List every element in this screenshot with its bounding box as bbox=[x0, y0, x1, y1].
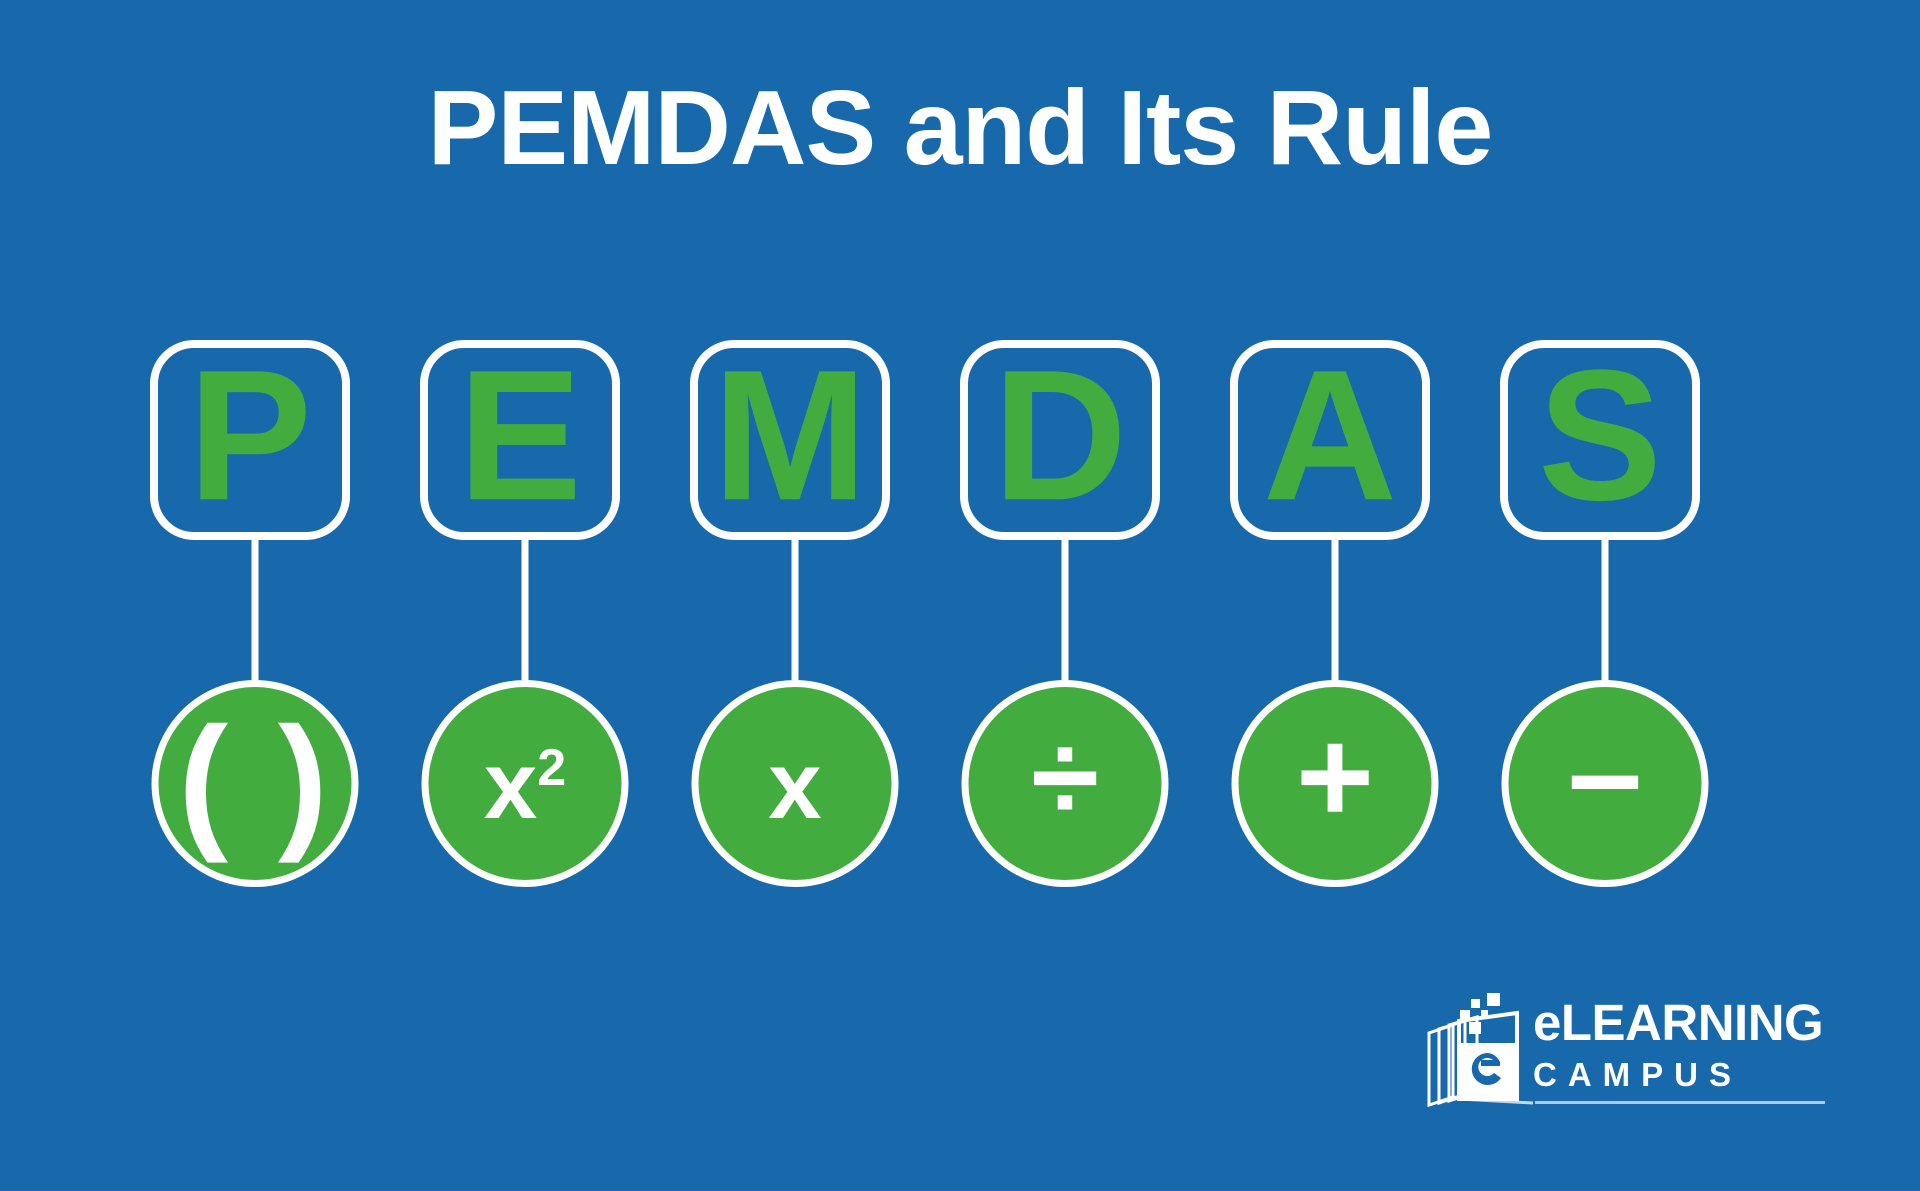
logo-wordmark: eLEARNING CAMPUS bbox=[1533, 997, 1833, 1091]
minus-icon: – bbox=[1568, 706, 1643, 840]
exponent-icon: x2 bbox=[484, 737, 566, 833]
plus-icon: + bbox=[1296, 710, 1374, 844]
letter-box-p[interactable]: P bbox=[150, 340, 350, 540]
symbol-circle-exponent[interactable]: x2 bbox=[422, 680, 629, 887]
letter-glyph-e: E bbox=[458, 343, 582, 529]
connector-line-p bbox=[252, 540, 259, 680]
letter-glyph-p: P bbox=[188, 343, 312, 529]
letter-glyph-a: A bbox=[1263, 343, 1397, 529]
division-icon: ÷ bbox=[1031, 715, 1099, 839]
pemdas-column-p: P ( ) bbox=[150, 340, 360, 900]
pemdas-column-e: E x2 bbox=[420, 340, 630, 900]
symbol-circle-multiplication[interactable]: x bbox=[692, 680, 899, 887]
slide-canvas: PEMDAS and Its Rule P ( ) E x2 M bbox=[0, 0, 1920, 1191]
pemdas-column-a: A + bbox=[1230, 340, 1440, 900]
letter-box-a[interactable]: A bbox=[1230, 340, 1430, 540]
symbol-circle-division[interactable]: ÷ bbox=[962, 680, 1169, 887]
page-title: PEMDAS and Its Rule bbox=[0, 70, 1920, 187]
logo-line-campus: CAMPUS bbox=[1533, 1058, 1833, 1091]
symbol-circle-addition[interactable]: + bbox=[1232, 680, 1439, 887]
connector-line-a bbox=[1332, 540, 1339, 680]
logo-line-elearning: eLEARNING bbox=[1533, 997, 1833, 1048]
pemdas-column-d: D ÷ bbox=[960, 340, 1170, 900]
connector-line-d bbox=[1062, 540, 1069, 680]
stacked-books-icon bbox=[1425, 993, 1535, 1113]
connector-line-m bbox=[792, 540, 799, 680]
connector-line-s bbox=[1602, 540, 1609, 680]
parentheses-icon: ( ) bbox=[178, 704, 332, 854]
letter-box-m[interactable]: M bbox=[690, 340, 890, 540]
letter-box-s[interactable]: S bbox=[1500, 340, 1700, 540]
connector-line-e bbox=[522, 540, 529, 680]
exponent-power: 2 bbox=[537, 738, 566, 796]
letter-box-e[interactable]: E bbox=[420, 340, 620, 540]
multiplication-icon: x bbox=[768, 737, 821, 833]
letter-box-d[interactable]: D bbox=[960, 340, 1160, 540]
pemdas-diagram: P ( ) E x2 M x bbox=[150, 340, 1730, 900]
letter-glyph-d: D bbox=[993, 343, 1127, 529]
symbol-circle-subtraction[interactable]: – bbox=[1502, 680, 1709, 887]
letter-glyph-s: S bbox=[1538, 343, 1662, 529]
letter-glyph-m: M bbox=[713, 343, 868, 529]
pemdas-column-s: S – bbox=[1500, 340, 1710, 900]
logo-underline bbox=[1535, 1101, 1825, 1104]
symbol-circle-parentheses[interactable]: ( ) bbox=[152, 680, 359, 887]
pemdas-column-m: M x bbox=[690, 340, 900, 900]
exponent-base: x bbox=[484, 731, 537, 838]
brand-logo[interactable]: eLEARNING CAMPUS bbox=[1425, 975, 1825, 1135]
